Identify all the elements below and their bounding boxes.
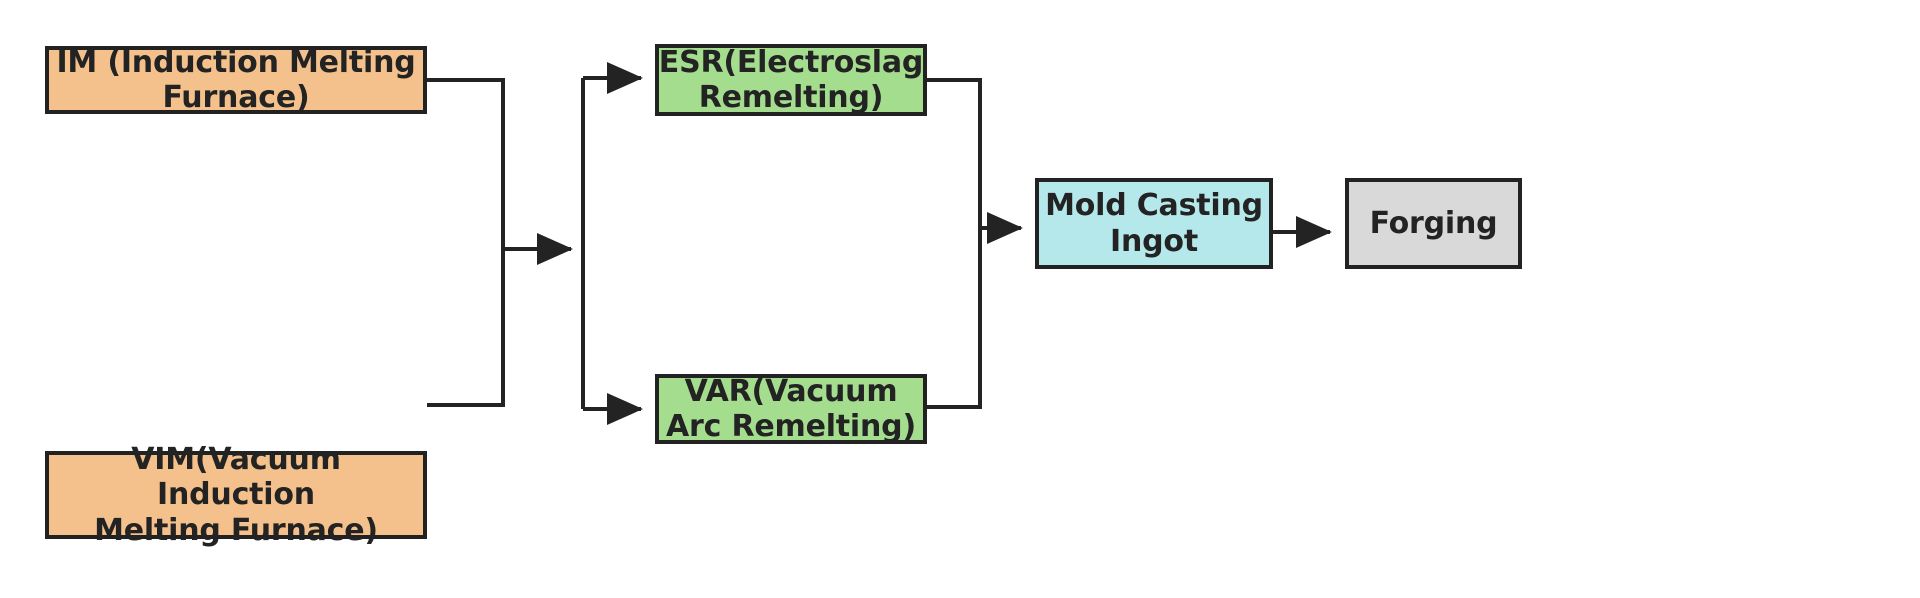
- node-label-mold: Mold Casting Ingot: [1045, 188, 1263, 259]
- edge-var-to-merge2: [927, 228, 980, 407]
- node-induction-melting-furnace[interactable]: IM (Induction Melting Furnace): [45, 46, 427, 114]
- edge-vim-to-merge: [427, 249, 503, 405]
- node-vacuum-arc-remelting[interactable]: VAR(Vacuum Arc Remelting): [655, 374, 927, 444]
- edge-esr-to-merge2: [927, 80, 980, 228]
- node-electroslag-remelting[interactable]: ESR(Electroslag Remelting): [655, 44, 927, 116]
- node-label-var: VAR(Vacuum Arc Remelting): [666, 374, 916, 445]
- node-label-vim: VIM(Vacuum Induction Melting Furnace): [55, 442, 417, 548]
- node-label-forging: Forging: [1370, 206, 1498, 241]
- node-label-esr: ESR(Electroslag Remelting): [659, 45, 923, 116]
- edge-im-to-merge: [427, 80, 503, 249]
- flowchart-canvas: IM (Induction Melting Furnace) VIM(Vacuu…: [0, 0, 1920, 598]
- node-vacuum-induction-melting-furnace[interactable]: VIM(Vacuum Induction Melting Furnace): [45, 451, 427, 539]
- node-label-im: IM (Induction Melting Furnace): [56, 45, 415, 116]
- node-mold-casting-ingot[interactable]: Mold Casting Ingot: [1035, 178, 1273, 269]
- node-forging[interactable]: Forging: [1345, 178, 1522, 269]
